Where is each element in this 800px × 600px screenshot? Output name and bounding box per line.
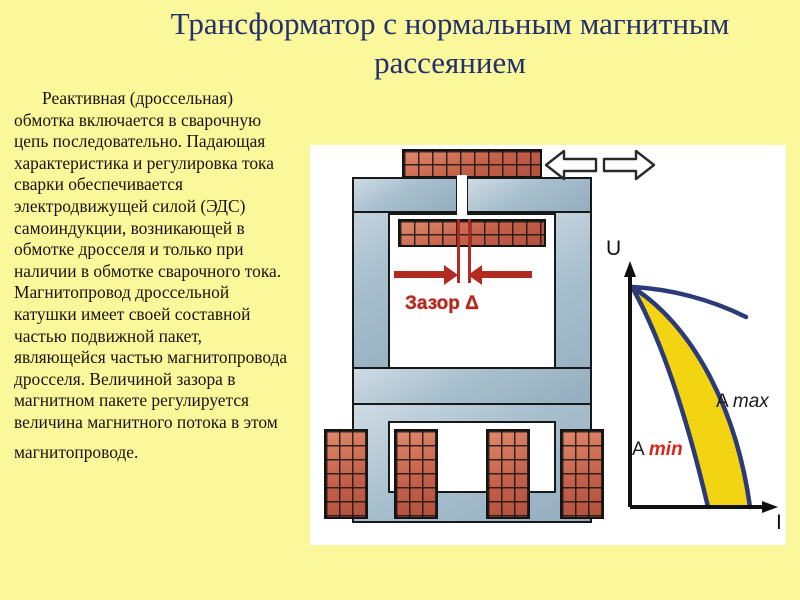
- body-paragraph-last-line: магнитопроводе.: [14, 442, 290, 464]
- chart-x-axis-label: I: [776, 511, 782, 535]
- chart-annotation-amax-value: max: [733, 391, 769, 412]
- page-title: Трансформатор с нормальным магнитным рас…: [120, 4, 780, 82]
- chart-annotation-amin: A min: [632, 439, 683, 461]
- core-upper-yoke-left-half: [352, 177, 458, 213]
- winding-lower-inner-right: [486, 429, 530, 519]
- chart-annotation-amin-prefix: A: [632, 439, 644, 460]
- chart-annotation-amin-value: min: [649, 439, 683, 460]
- winding-lower-inner-left: [394, 429, 438, 519]
- gap-arrow-right-pointing-left: [482, 271, 532, 278]
- core-upper-bottom-yoke: [352, 367, 592, 405]
- move-arrow-left-icon: [542, 145, 600, 185]
- chart-y-axis-label: U: [606, 237, 621, 261]
- winding-lower-outer-left: [324, 429, 368, 519]
- transformer-figure-panel: Зазор Δ U I A max A min: [310, 145, 786, 545]
- body-paragraph-main: Реактивная (дроссельная) обмотка включае…: [14, 88, 287, 432]
- winding-top: [402, 149, 542, 178]
- body-paragraph: Реактивная (дроссельная) обмотка включае…: [14, 88, 290, 463]
- gap-label: Зазор Δ: [405, 293, 479, 315]
- magnetic-gap-slot: [457, 175, 467, 215]
- winding-lower-outer-right: [560, 429, 604, 519]
- winding-middle: [398, 219, 546, 247]
- move-arrow-right-icon: [600, 145, 658, 185]
- chart-annotation-amax-prefix: A: [716, 391, 728, 412]
- gap-arrow-left-pointing-right: [394, 271, 444, 278]
- chart-y-axis-arrowhead: [624, 261, 636, 277]
- chart-annotation-amax: A max: [716, 391, 769, 413]
